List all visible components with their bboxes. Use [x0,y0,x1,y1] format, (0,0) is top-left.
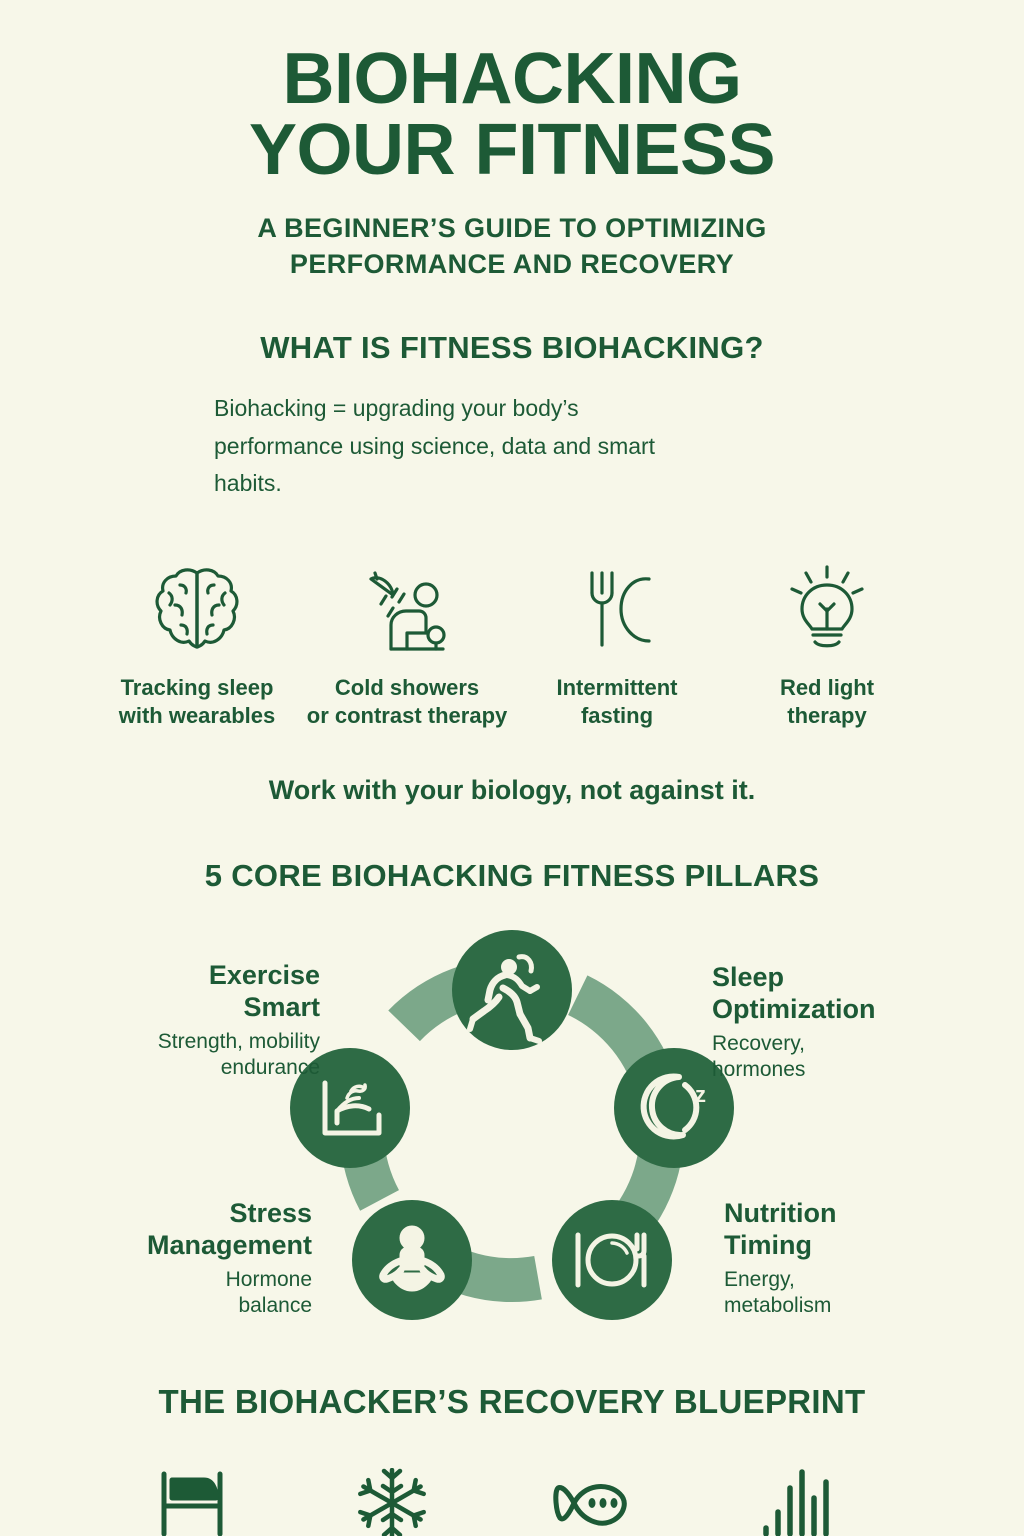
snowflake-icon [352,1468,432,1536]
svg-text:z: z [695,1082,706,1107]
habit-label-line-2: or contrast therapy [307,702,508,730]
habit-item-intermittent-fasting: Intermittent fasting [512,556,722,730]
habit-label-intermittent-fasting: Intermittent fasting [557,674,678,730]
habit-label-line-1: Tracking sleep [121,675,274,700]
fork-plate-icon [567,556,667,660]
title-line-1: BIOHACKING [283,39,742,119]
fish-icon [548,1468,636,1536]
recovery-item-omega-nutrition [492,1468,692,1536]
pillar-circle-nutrition [552,1200,672,1320]
pillar-sub-line-2: hormones [712,1057,942,1083]
pillar-sub-line-1: Strength, mobility [108,1029,320,1055]
pillar-node-exercise[interactable] [452,930,572,1050]
pillar-sub-line-2: endurance [108,1055,320,1081]
pillar-title-line-1: Sleep [712,962,942,994]
pillar-title-line-2: Optimization [712,994,942,1026]
pillar-title-line-2: Timing [724,1230,934,1262]
pillar-sub-nutrition: Energy, metabolism [724,1267,934,1319]
habit-icon-row: Tracking sleep with wearables [0,556,1024,730]
recovery-item-tracking [692,1468,892,1536]
habit-label-line-1: Intermittent [557,675,678,700]
cold-shower-icon [357,556,457,660]
pillar-title-line-2: Smart [108,992,320,1024]
recovery-item-sleep [92,1468,292,1536]
habit-label-line-1: Cold showers [335,675,479,700]
habit-label-red-light-therapy: Red light therapy [780,674,874,730]
section-heading-core-pillars: 5 CORE BIOHACKING FITNESS PILLARS [0,858,1024,894]
loop-diagram-svg: z [287,925,737,1355]
page-subtitle: A BEGINNER’S GUIDE TO OPTIMIZING PERFORM… [0,211,1024,282]
pillar-caption-exercise: Exercise Smart Strength, mobility endura… [108,960,320,1081]
pillar-sub-line-1: Recovery, [712,1031,942,1057]
recovery-icon-row [0,1468,1024,1536]
pillar-sub-sleep: Recovery, hormones [712,1031,942,1083]
bar-chart-icon [752,1468,832,1536]
pillar-title-stress: Stress Management [100,1198,312,1262]
pillar-title-exercise: Exercise Smart [108,960,320,1024]
pillar-sub-line-1: Energy, [724,1267,934,1293]
title-block: BIOHACKING YOUR FITNESS A BEGINNER’S GUI… [0,0,1024,282]
intro-paragraph: Biohacking = upgrading your body’s perfo… [58,390,678,502]
habit-item-cold-shower: Cold showers or contrast therapy [302,556,512,730]
section-heading-recovery-blueprint: THE BIOHACKER’S RECOVERY BLUEPRINT [0,1383,1024,1421]
pillar-title-line-1: Nutrition [724,1198,934,1230]
pillar-title-nutrition: Nutrition Timing [724,1198,934,1262]
pillar-sub-line-2: metabolism [724,1293,934,1319]
pillar-title-line-1: Stress [100,1198,312,1230]
bed-icon [152,1468,232,1536]
pillar-node-stress[interactable] [352,1200,472,1320]
pillar-caption-stress: Stress Management Hormone balance [100,1198,312,1319]
subtitle-line-1: A BEGINNER’S GUIDE TO OPTIMIZING [257,213,766,243]
habit-item-red-light-therapy: Red light therapy [722,556,932,730]
habit-label-line-2: therapy [780,702,874,730]
lightbulb-icon [777,556,877,660]
habit-label-line-2: with wearables [119,702,276,730]
pillar-title-line-2: Management [100,1230,312,1262]
pillar-sub-stress: Hormone balance [100,1267,312,1319]
subtitle-line-2: PERFORMANCE AND RECOVERY [0,247,1024,283]
habit-label-sleep-tracking: Tracking sleep with wearables [119,674,276,730]
brain-icon [147,556,247,660]
habit-label-cold-shower: Cold showers or contrast therapy [307,674,508,730]
section-heading-what-is-biohacking: WHAT IS FITNESS BIOHACKING? [0,330,1024,366]
habit-item-sleep-tracking: Tracking sleep with wearables [92,556,302,730]
recovery-item-cold-exposure [292,1468,492,1536]
infographic-page: BIOHACKING YOUR FITNESS A BEGINNER’S GUI… [0,0,1024,1536]
title-line-2: YOUR FITNESS [0,115,1024,186]
habit-label-line-1: Red light [780,675,874,700]
pillar-title-sleep: Sleep Optimization [712,962,942,1026]
pillar-sub-line-2: balance [100,1293,312,1319]
pillar-sub-line-1: Hormone [100,1267,312,1293]
pillar-sub-exercise: Strength, mobility endurance [108,1029,320,1081]
biology-tagline: Work with your biology, not against it. [0,775,1024,806]
pillar-caption-sleep: Sleep Optimization Recovery, hormones [712,962,942,1083]
page-title: BIOHACKING YOUR FITNESS [0,44,1024,185]
pillar-caption-nutrition: Nutrition Timing Energy, metabolism [724,1198,934,1319]
pillar-title-line-1: Exercise [108,960,320,992]
pillar-node-nutrition[interactable] [552,1200,672,1320]
habit-label-line-2: fasting [557,702,678,730]
